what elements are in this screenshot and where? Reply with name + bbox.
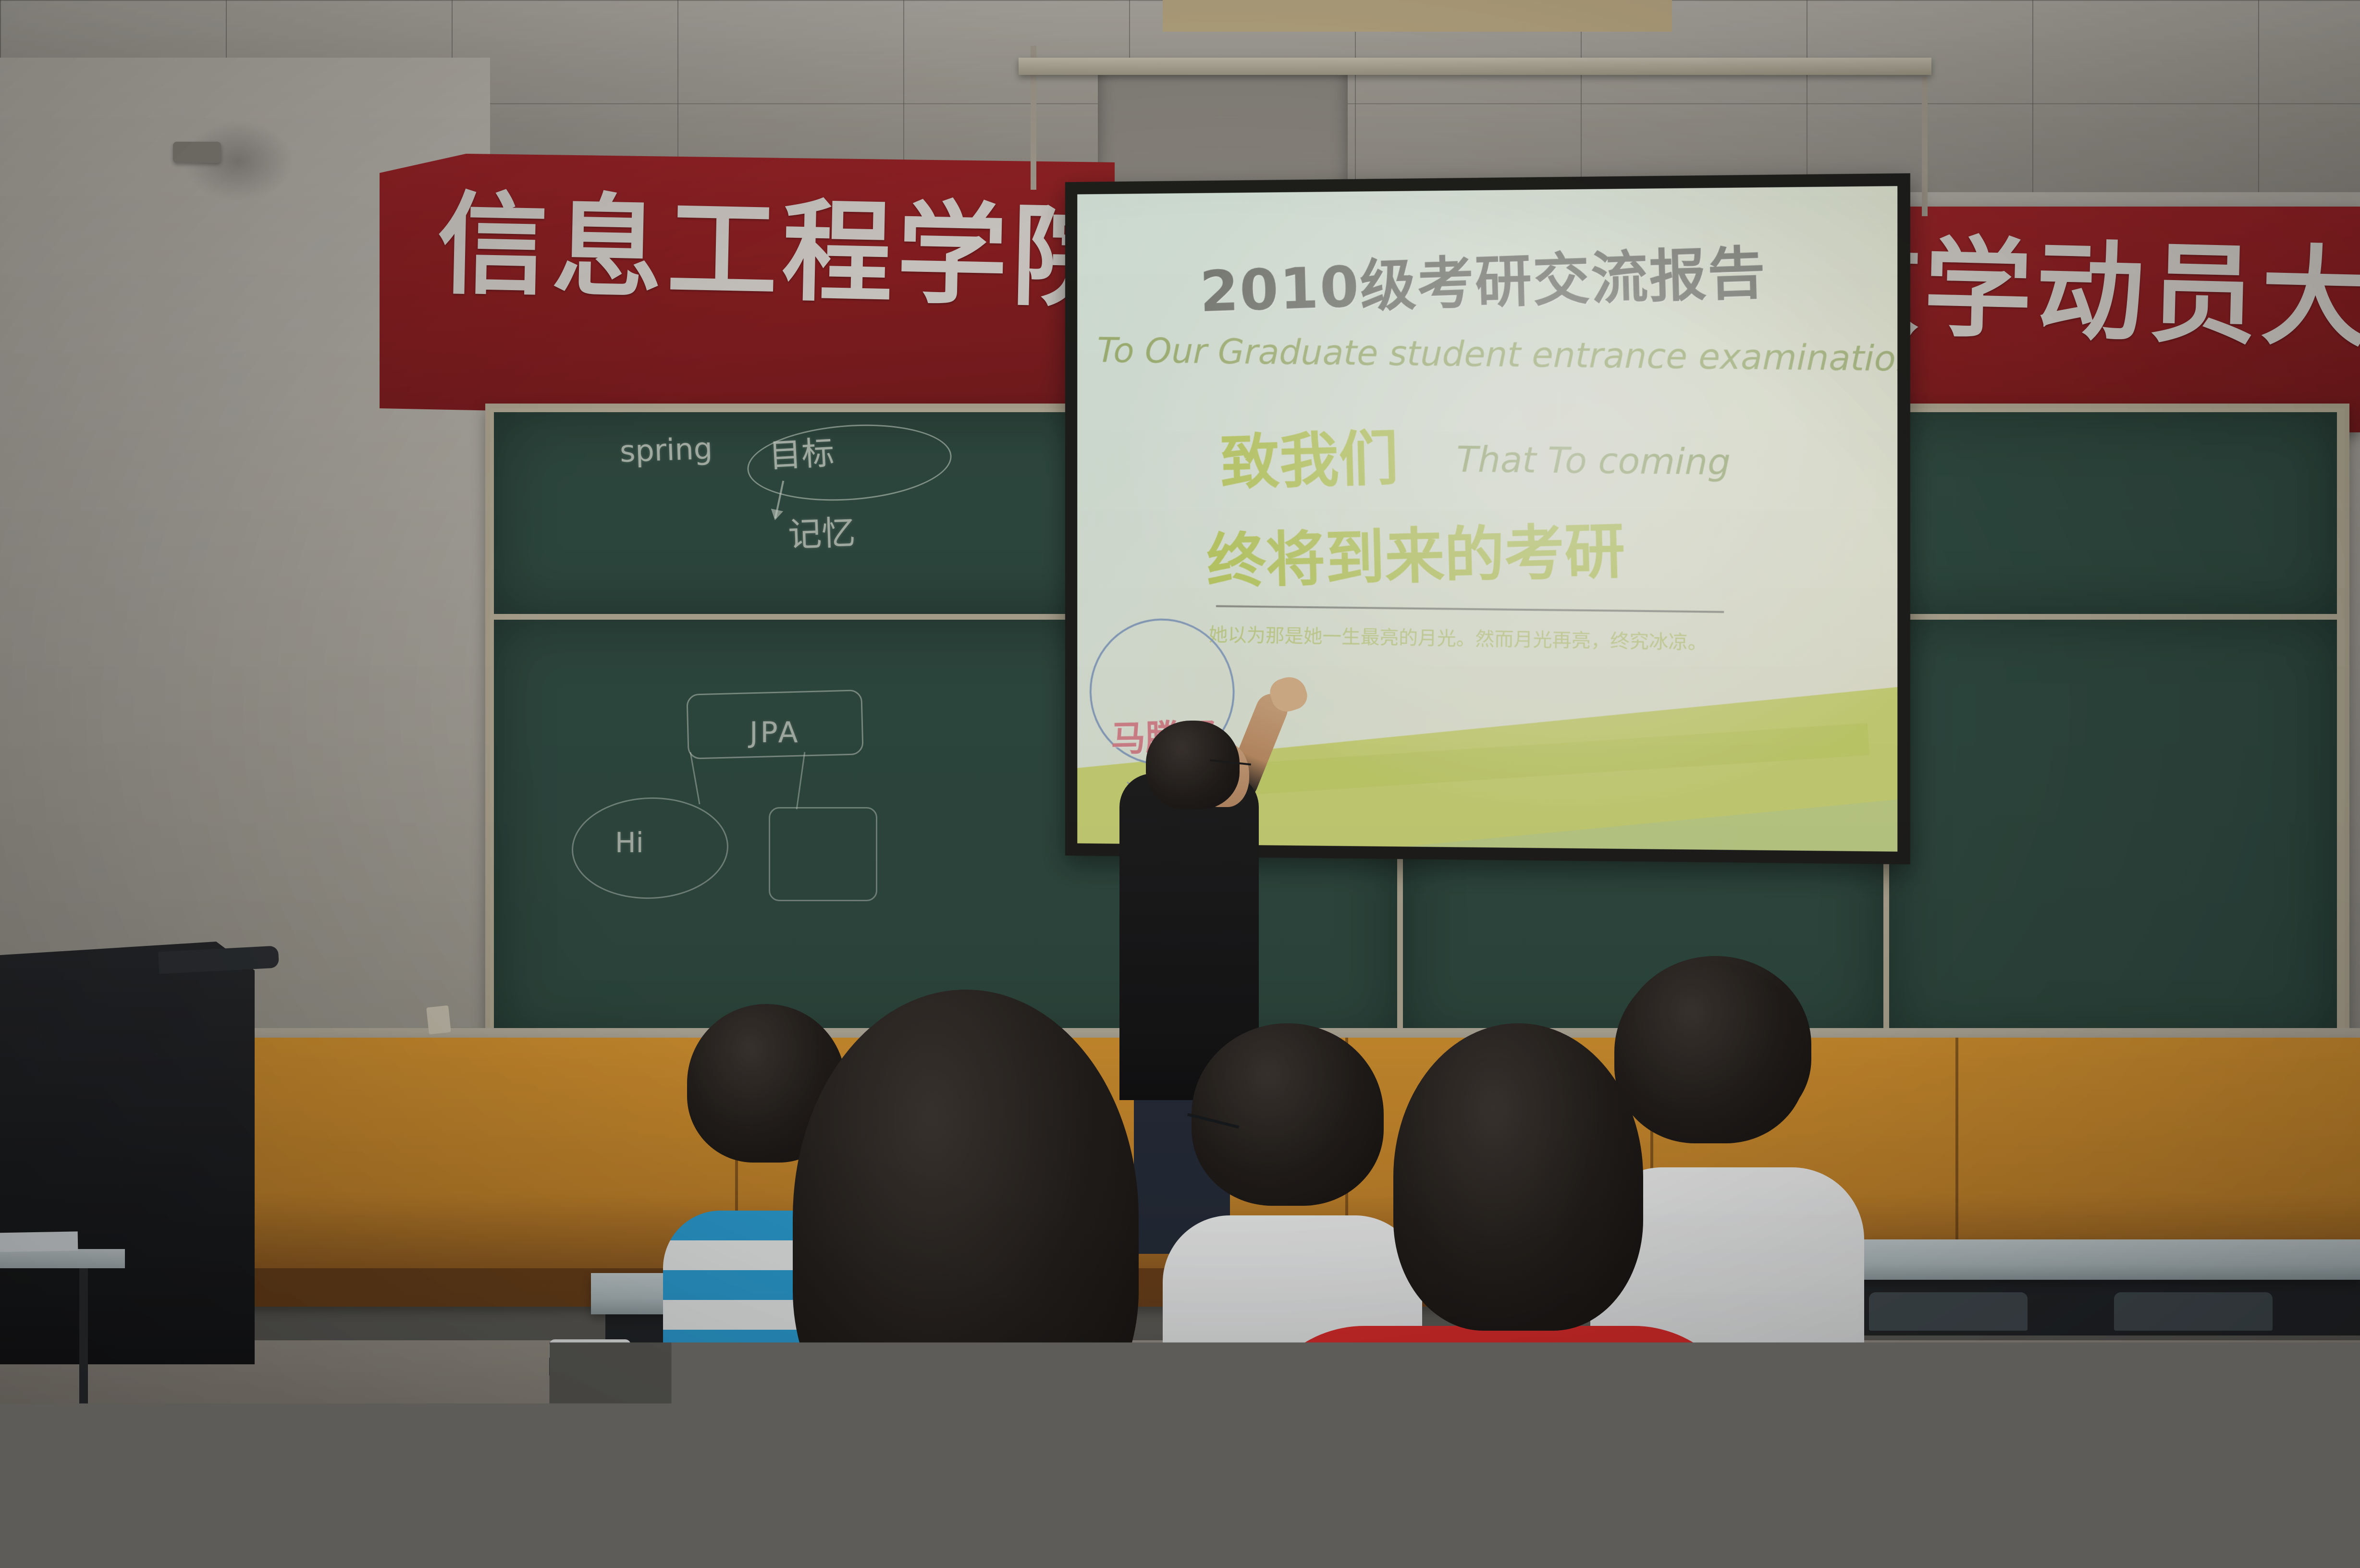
- chair: [1869, 1292, 2028, 1331]
- smoke-detector-icon: [173, 142, 221, 163]
- ceiling-vent-panel: [1163, 0, 1672, 32]
- slide-quote: 她以为那是她一生最亮的月光。然而月光再亮，终究冰凉。: [1209, 621, 1717, 658]
- slide-line-en-2: That To coming: [1456, 439, 1731, 483]
- paper-scrap: [426, 1005, 451, 1035]
- slide-line-cn-2: 终将到来的考研: [1205, 502, 1626, 600]
- chair: [2114, 1292, 2273, 1331]
- slide-subtitle-en: To Our Graduate student entrance examina…: [1097, 330, 1897, 379]
- student-torso-red: [1249, 1326, 1749, 1568]
- chalk-note-spring: spring: [619, 431, 713, 469]
- slide-line-cn-1: 致我们: [1219, 410, 1399, 501]
- blackboard-panel-bottom-right: [1889, 620, 2337, 1044]
- screen-rod-right: [1922, 77, 1928, 216]
- chalk-note-hi: Hi: [615, 826, 644, 859]
- student-head-plaid: [793, 990, 1139, 1446]
- chalk-note-goal: 目标: [768, 426, 836, 477]
- lectern: [0, 942, 264, 1364]
- student-head-red: [1393, 1023, 1643, 1331]
- desk-underside: [1778, 1388, 2360, 1460]
- banner-right: 教学动员大会: [1869, 207, 2360, 432]
- desk-row-back-right: [1826, 1239, 2360, 1280]
- projector-screen-mount: [1019, 58, 1931, 75]
- slide-title: 2010级考研交流报告: [1199, 226, 1768, 328]
- chalk-box-right: [769, 807, 877, 901]
- banner-left-text: 信息工程学院: [436, 190, 1128, 315]
- slide-divider: [1216, 605, 1724, 612]
- notebook: [0, 1231, 78, 1252]
- water-bottle-cap: [549, 1339, 631, 1377]
- student-head-white-right: [1614, 961, 1807, 1143]
- chalk-note-memory: 记忆: [787, 506, 856, 557]
- desk-row-front-right: [1696, 1484, 2360, 1568]
- water-bottle-liquid: [553, 1482, 627, 1568]
- banner-left: 信息工程学院: [380, 154, 1115, 423]
- ceiling-open-panel: [1098, 58, 1348, 197]
- side-desk-leg: [79, 1268, 88, 1470]
- side-desk: [0, 1249, 125, 1268]
- presenter-head: [1146, 721, 1240, 809]
- chalk-note-jpa: JPA: [750, 716, 800, 749]
- student-head-white-glasses: [1192, 1023, 1384, 1206]
- classroom-photo: 信息工程学院 教学动员大会 spring 目标 记忆 JPA Hi 2010级考…: [0, 0, 2360, 1568]
